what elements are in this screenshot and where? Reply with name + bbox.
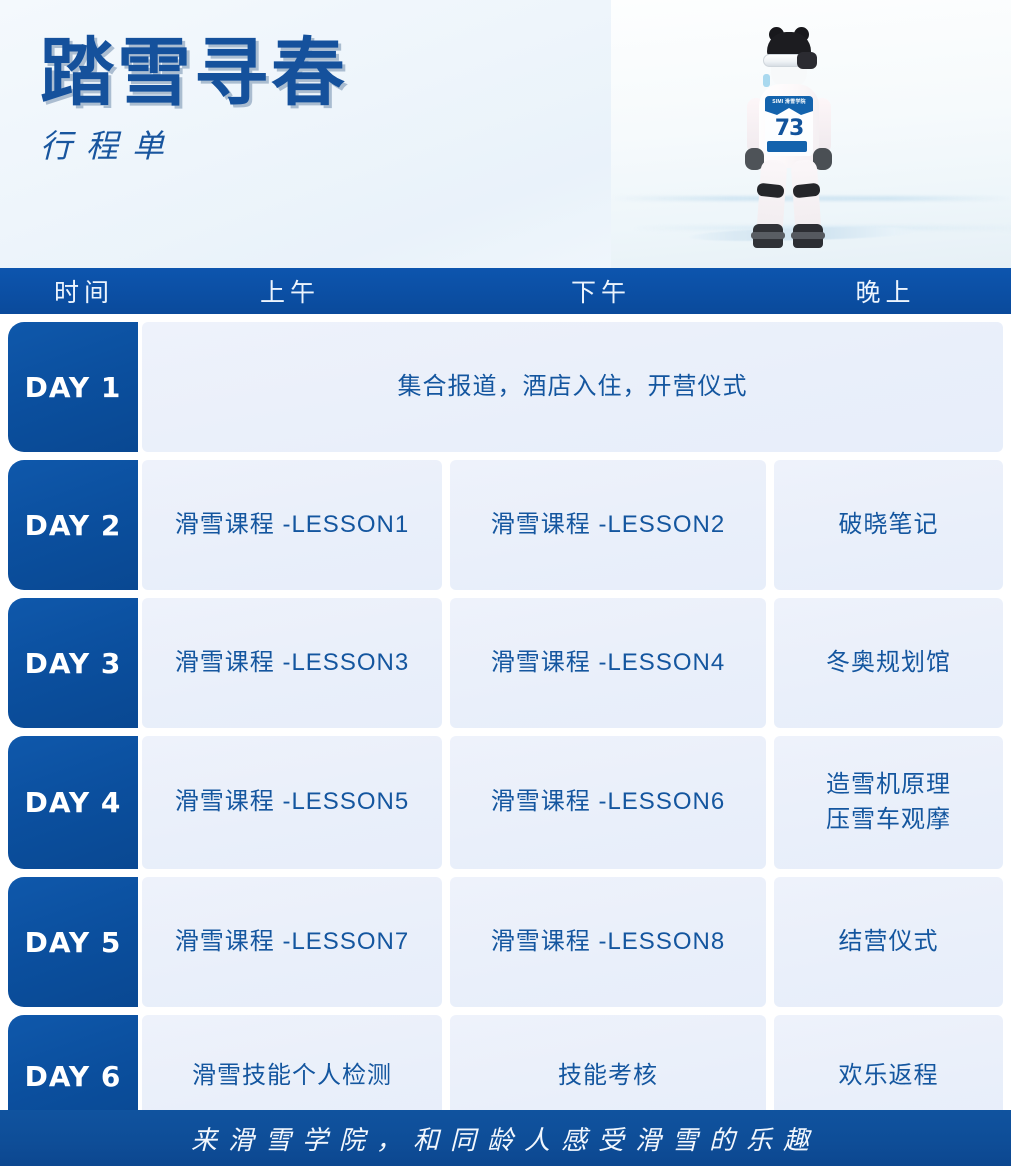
day-badge: DAY 1 bbox=[8, 322, 138, 452]
row-cells: 滑雪课程 -LESSON5 滑雪课程 -LESSON6 造雪机原理 压雪车观摩 bbox=[138, 736, 1003, 869]
itinerary-poster: SIMI 滑雪学院 73 踏雪寻春 行程单 bbox=[0, 0, 1011, 1166]
day-badge: DAY 3 bbox=[8, 598, 138, 728]
table-row: DAY 4 滑雪课程 -LESSON5 滑雪课程 -LESSON6 造雪机原理 … bbox=[0, 736, 1011, 869]
race-bib: SIMI 滑雪学院 73 bbox=[765, 96, 813, 156]
page-subtitle: 行程单 bbox=[40, 130, 348, 162]
rider-figure: SIMI 滑雪学院 73 bbox=[723, 32, 853, 240]
cell-morning: 滑雪课程 -LESSON5 bbox=[142, 736, 442, 869]
snowboarder-photo: SIMI 滑雪学院 73 bbox=[611, 0, 1011, 268]
table-row: DAY 5 滑雪课程 -LESSON7 滑雪课程 -LESSON8 结营仪式 bbox=[0, 877, 1011, 1007]
binding-right-icon bbox=[791, 232, 825, 239]
itinerary-table: DAY 1 集合报道，酒店入住，开营仪式 DAY 2 滑雪课程 -LESSON1… bbox=[0, 314, 1011, 1137]
cell-evening: 破晓笔记 bbox=[774, 460, 1003, 590]
cell-evening: 冬奥规划馆 bbox=[774, 598, 1003, 728]
cell-afternoon: 滑雪课程 -LESSON8 bbox=[450, 877, 766, 1007]
bib-number: 73 bbox=[765, 116, 813, 141]
cell-afternoon: 滑雪课程 -LESSON4 bbox=[450, 598, 766, 728]
binding-left-icon bbox=[751, 232, 785, 239]
bib-bottom-band bbox=[767, 141, 807, 152]
footer-banner: 来滑雪学院，和同龄人感受滑雪的乐趣 bbox=[0, 1110, 1011, 1166]
column-header-time: 时间 bbox=[0, 273, 138, 309]
table-row: DAY 1 集合报道，酒店入住，开营仪式 bbox=[0, 322, 1011, 452]
day-badge: DAY 2 bbox=[8, 460, 138, 590]
cell-merged-all-day: 集合报道，酒店入住，开营仪式 bbox=[142, 322, 1003, 452]
day-badge: DAY 4 bbox=[8, 736, 138, 869]
title-block: 踏雪寻春 行程单 bbox=[40, 36, 348, 162]
cell-afternoon: 滑雪课程 -LESSON6 bbox=[450, 736, 766, 869]
column-header-evening: 晚上 bbox=[760, 273, 1011, 309]
row-cells: 滑雪课程 -LESSON1 滑雪课程 -LESSON2 破晓笔记 bbox=[138, 460, 1003, 590]
table-row: DAY 2 滑雪课程 -LESSON1 滑雪课程 -LESSON2 破晓笔记 bbox=[0, 460, 1011, 590]
bib-side-tag bbox=[763, 74, 770, 87]
column-header-afternoon: 下午 bbox=[442, 273, 760, 309]
cell-evening-text: 造雪机原理 压雪车观摩 bbox=[826, 768, 951, 838]
cell-morning: 滑雪课程 -LESSON1 bbox=[142, 460, 442, 590]
footer-tagline: 来滑雪学院，和同龄人感受滑雪的乐趣 bbox=[191, 1120, 820, 1157]
cell-evening: 造雪机原理 压雪车观摩 bbox=[774, 736, 1003, 869]
table-row: DAY 3 滑雪课程 -LESSON3 滑雪课程 -LESSON4 冬奥规划馆 bbox=[0, 598, 1011, 728]
column-header-morning: 上午 bbox=[138, 273, 442, 309]
hero-banner: SIMI 滑雪学院 73 踏雪寻春 行程单 bbox=[0, 0, 1011, 268]
cell-afternoon: 滑雪课程 -LESSON2 bbox=[450, 460, 766, 590]
row-cells: 滑雪课程 -LESSON3 滑雪课程 -LESSON4 冬奥规划馆 bbox=[138, 598, 1003, 728]
cell-morning: 滑雪课程 -LESSON7 bbox=[142, 877, 442, 1007]
goggles-lens-icon bbox=[797, 52, 817, 69]
row-cells: 滑雪课程 -LESSON7 滑雪课程 -LESSON8 结营仪式 bbox=[138, 877, 1003, 1007]
page-title: 踏雪寻春 bbox=[40, 36, 348, 110]
cell-morning: 滑雪课程 -LESSON3 bbox=[142, 598, 442, 728]
day-badge: DAY 5 bbox=[8, 877, 138, 1007]
cell-evening: 结营仪式 bbox=[774, 877, 1003, 1007]
knee-pad-left-icon bbox=[756, 183, 784, 199]
row-cells: 集合报道，酒店入住，开营仪式 bbox=[138, 322, 1003, 452]
bib-brand-text: SIMI 滑雪学院 bbox=[765, 99, 813, 105]
table-header-row: 时间 上午 下午 晚上 bbox=[0, 268, 1011, 314]
